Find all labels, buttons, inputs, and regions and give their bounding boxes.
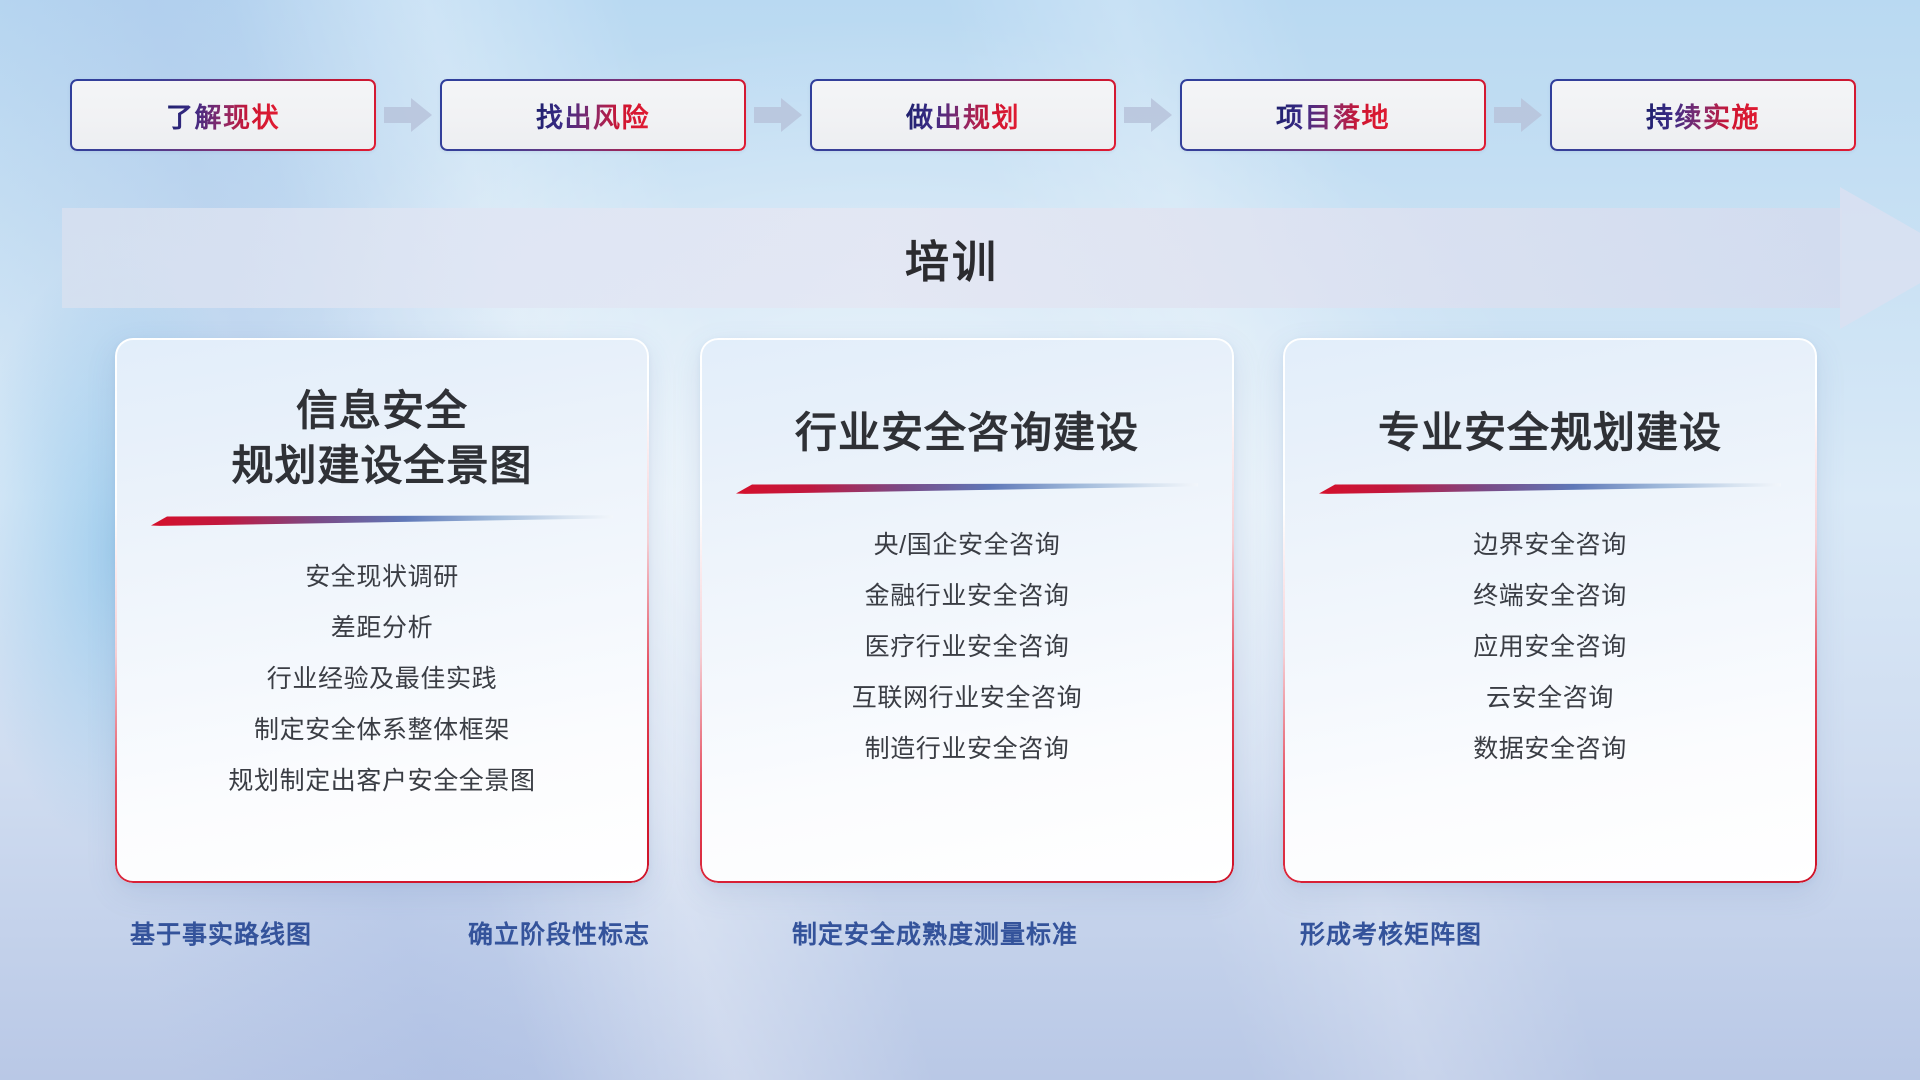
step-box-3[interactable]: 做出规划 [810,79,1116,151]
card-items-2: 央/国企安全咨询 金融行业安全咨询 医疗行业安全咨询 互联网行业安全咨询 制造行… [852,520,1082,775]
footer-label-4: 形成考核矩阵图 [1300,915,1482,951]
footer-label-3: 制定安全成熟度测量标准 [792,915,1078,951]
list-item: 规划制定出客户安全全景图 [228,756,535,807]
step-label-1: 了解现状 [166,96,280,135]
card-title-3: 专业安全规划建设 [1378,406,1722,461]
footer-label-2: 确立阶段性标志 [468,915,650,951]
card-title-1: 信息安全 规划建设全景图 [231,384,532,493]
footer-label-row: 基于事实路线图 确立阶段性标志 制定安全成熟度测量标准 形成考核矩阵图 [0,915,1920,965]
step-arrow-4 [1486,98,1550,132]
step-box-4[interactable]: 项目落地 [1180,79,1486,151]
step-arrow-1 [376,98,440,132]
card-information-security-blueprint[interactable]: 信息安全 规划建设全景图 [115,338,649,883]
list-item: 数据安全咨询 [1473,724,1627,775]
training-banner: 培训 [62,208,1902,308]
process-step-row: 了解现状 找出风险 做出规划 项目落地 [70,79,1856,151]
list-item: 制定安全体系整体框架 [254,705,510,756]
footer-label-1: 基于事实路线图 [130,915,312,951]
card-industry-security-consulting[interactable]: 行业安全咨询建设 [700,338,1234,883]
list-item: 差距分析 [331,603,433,654]
step-box-2[interactable]: 找出风险 [440,79,746,151]
gradient-divider-icon [736,483,1198,494]
step-label-3: 做出规划 [906,96,1020,135]
list-item: 边界安全咨询 [1473,520,1627,571]
step-arrow-3 [1116,98,1180,132]
step-arrow-2 [746,98,810,132]
step-label-2: 找出风险 [536,96,650,135]
card-items-1: 安全现状调研 差距分析 行业经验及最佳实践 制定安全体系整体框架 规划制定出客户… [228,552,535,807]
list-item: 行业经验及最佳实践 [267,654,497,705]
list-item: 制造行业安全咨询 [865,724,1070,775]
slide-canvas: 了解现状 找出风险 做出规划 项目落地 [0,0,1920,1080]
training-banner-label: 培训 [62,208,1842,308]
card-items-3: 边界安全咨询 终端安全咨询 应用安全咨询 云安全咨询 数据安全咨询 [1473,520,1627,775]
step-box-5[interactable]: 持续实施 [1550,79,1856,151]
list-item: 医疗行业安全咨询 [865,622,1070,673]
gradient-divider-icon [151,515,613,526]
list-item: 央/国企安全咨询 [874,520,1061,571]
list-item: 云安全咨询 [1486,673,1614,724]
list-item: 终端安全咨询 [1473,571,1627,622]
list-item: 金融行业安全咨询 [865,571,1070,622]
step-box-1[interactable]: 了解现状 [70,79,376,151]
list-item: 应用安全咨询 [1473,622,1627,673]
step-label-5: 持续实施 [1646,96,1760,135]
card-professional-security-planning[interactable]: 专业安全规划建设 [1283,338,1817,883]
step-label-4: 项目落地 [1276,96,1390,135]
card-title-2: 行业安全咨询建设 [795,406,1139,461]
list-item: 互联网行业安全咨询 [852,673,1082,724]
gradient-divider-icon [1319,483,1781,494]
list-item: 安全现状调研 [305,552,459,603]
banner-arrow-head-icon [1840,187,1920,329]
